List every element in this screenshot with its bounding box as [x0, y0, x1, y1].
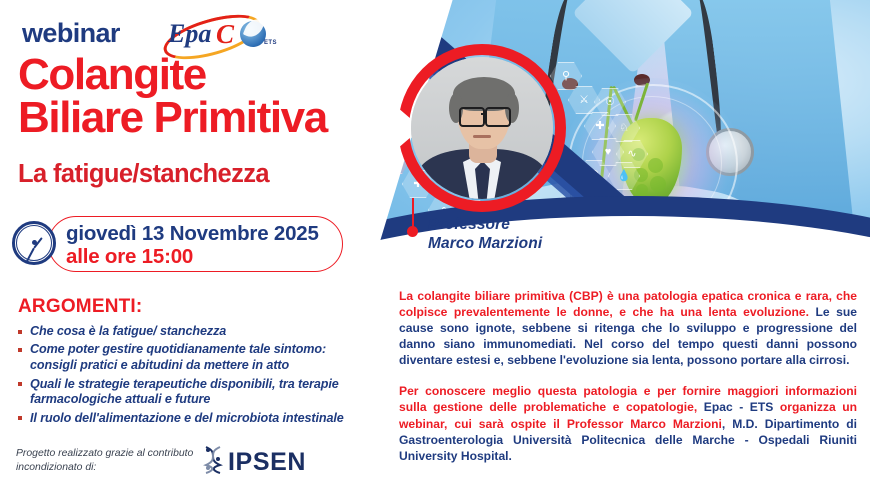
paragraph-2-navy-1: Epac - ETS: [704, 400, 774, 414]
list-item: Come poter gestire quotidianamente tale …: [18, 342, 368, 374]
epac-text-navy: Epa: [168, 19, 211, 49]
portrait-red-ring: [398, 44, 566, 212]
event-date: giovedì 13 Novembre 2025: [66, 222, 319, 246]
paragraph-1: La colangite biliare primitiva (CBP) è u…: [399, 288, 857, 368]
pointer-dot: [407, 226, 418, 237]
list-item: Il ruolo dell'alimentazione e del microb…: [18, 411, 368, 427]
clock-center-pin: [32, 240, 37, 245]
ipsen-logo: IPSEN: [202, 444, 318, 478]
webinar-label: webinar: [22, 18, 120, 49]
topics-list: Che cosa è la fatigue/ stanchezza Come p…: [18, 324, 368, 429]
page-subtitle: La fatigue/stanchezza: [18, 160, 269, 189]
event-time: alle ore 15:00: [66, 245, 193, 269]
epac-logo: Epa C ETS: [160, 12, 282, 54]
speaker-portrait: [398, 44, 566, 212]
page-title: Colangite Biliare Primitiva: [18, 54, 327, 139]
webinar-poster: ◉ ♨ ▤ ∿ ♦ ✚ 👁 ⚲ ⚔ ☉ ✚ ♘ ♥ ∿ ◎ 💧 🏥 📋 ⚖ ⚓ …: [0, 0, 870, 489]
paragraph-1-red: La colangite biliare primitiva (CBP) è u…: [399, 289, 857, 319]
body-text-column: La colangite biliare primitiva (CBP) è u…: [399, 288, 857, 479]
topics-heading: ARGOMENTI:: [18, 296, 142, 318]
speaker-fullname: Marco Marzioni: [428, 235, 542, 254]
title-line-2: Biliare Primitiva: [18, 97, 327, 140]
sponsor-note: Progetto realizzato grazie al contributo…: [16, 447, 196, 474]
speaker-label: Professore Marco Marzioni: [428, 216, 542, 254]
speaker-role: Professore: [428, 216, 542, 235]
list-item: Quali le strategie terapeutiche disponib…: [18, 377, 368, 409]
list-item: Che cosa è la fatigue/ stanchezza: [18, 324, 368, 340]
epac-ets-suffix: ETS: [264, 40, 277, 46]
ipsen-wordmark: IPSEN: [228, 448, 306, 477]
epac-text-red: C: [216, 19, 234, 50]
title-line-1: Colangite: [18, 54, 327, 97]
dna-helix-icon: [202, 445, 224, 475]
paragraph-2: Per conoscere meglio questa patologia e …: [399, 383, 857, 463]
